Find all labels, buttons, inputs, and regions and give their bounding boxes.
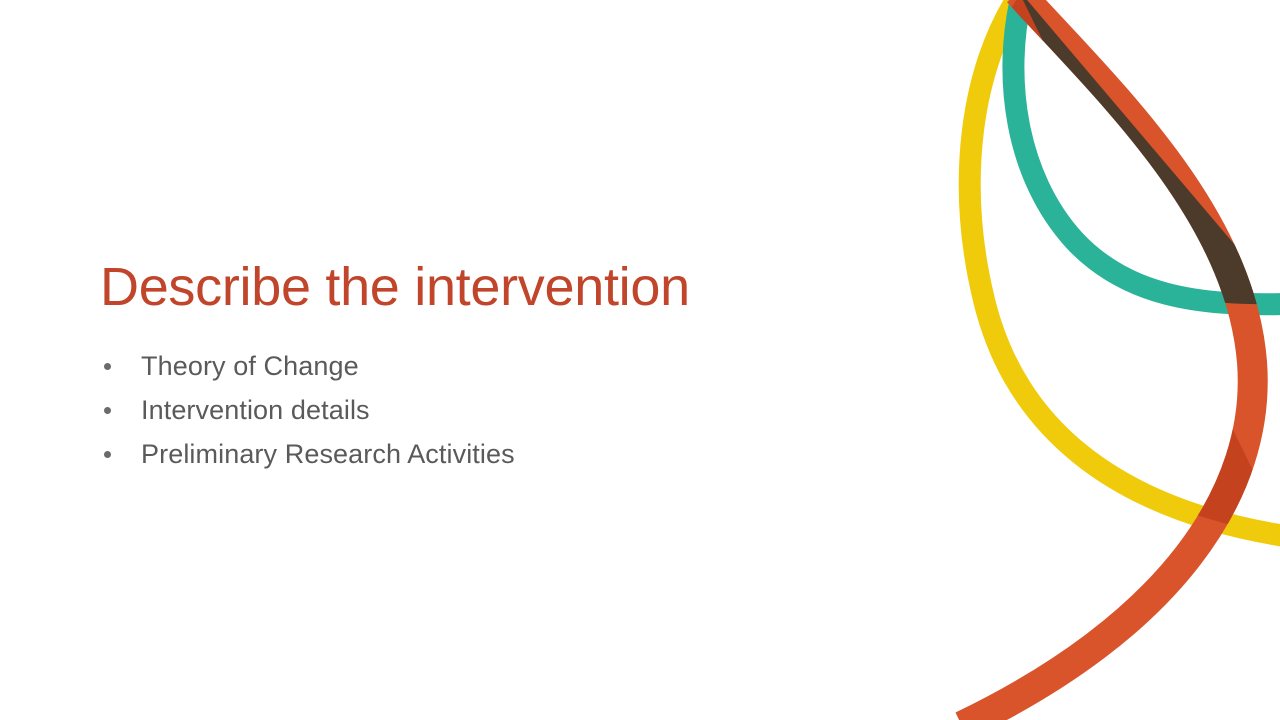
teal-arc <box>1013 0 1280 304</box>
bullet-text: Preliminary Research Activities <box>141 439 515 469</box>
list-item: Theory of Change <box>100 344 860 388</box>
teal-orange-overlap <box>962 0 1253 720</box>
bullet-list: Theory of Change Intervention details Pr… <box>100 344 860 476</box>
list-item: Intervention details <box>100 388 860 432</box>
bullet-dot-icon <box>104 363 111 370</box>
yellow-arc <box>970 0 1280 536</box>
decorative-arc-graphic <box>940 0 1280 720</box>
yellow-orange-overlap <box>962 0 1253 720</box>
slide-title: Describe the intervention <box>100 258 860 316</box>
bullet-dot-icon <box>104 451 111 458</box>
slide-content: Describe the intervention Theory of Chan… <box>0 0 900 720</box>
bullet-text: Theory of Change <box>141 351 359 381</box>
arc-svg <box>940 0 1280 720</box>
list-item: Preliminary Research Activities <box>100 432 860 476</box>
slide-canvas: Describe the intervention Theory of Chan… <box>0 0 1280 720</box>
bullet-text: Intervention details <box>141 395 370 425</box>
orange-arc <box>962 0 1253 720</box>
bullet-dot-icon <box>104 407 111 414</box>
